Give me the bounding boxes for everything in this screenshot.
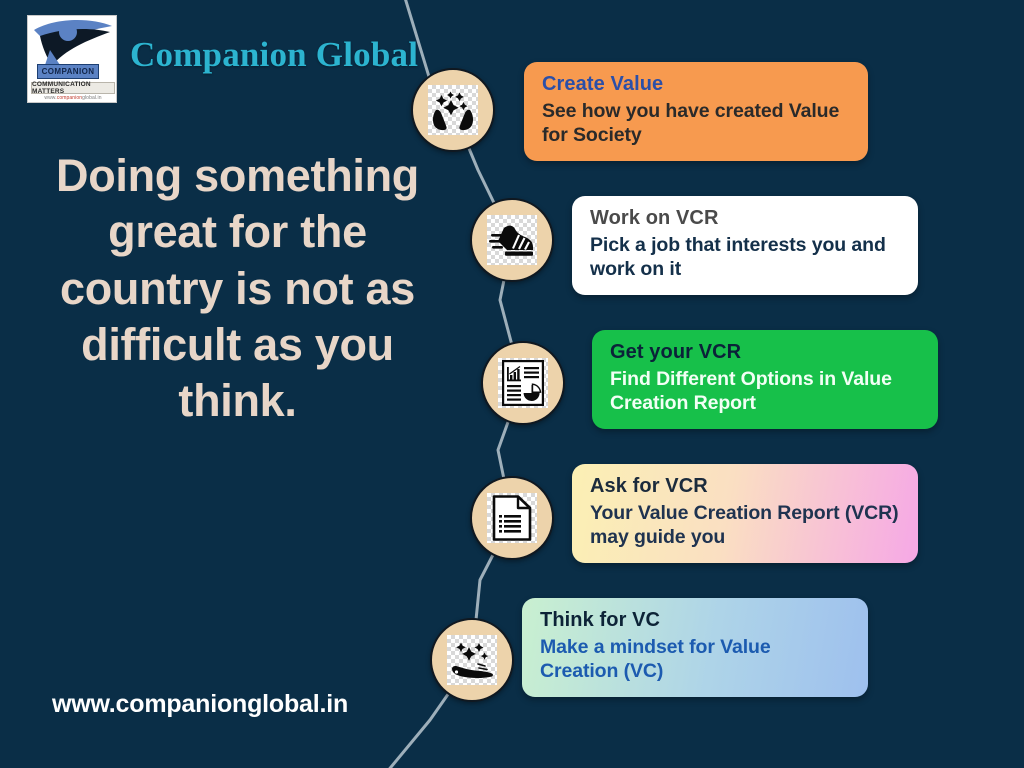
step-card[interactable]: Work on VCR Pick a job that interests yo… — [572, 196, 918, 295]
step-card-body: Make a mindset for Value Creation (VC) — [540, 635, 850, 684]
infographic-canvas: COMPANION COMMUNICATION MATTERS www.comp… — [0, 0, 1024, 768]
step-card-title: Get your VCR — [610, 341, 920, 364]
step-card[interactable]: Create Value See how you have created Va… — [524, 62, 868, 161]
running-shoe-icon — [487, 215, 537, 265]
logo-url-accent: companion — [57, 95, 82, 101]
step-card-title: Think for VC — [540, 609, 850, 632]
logo-tagline: COMMUNICATION MATTERS — [31, 82, 115, 94]
step-card-body: Find Different Options in Value Creation… — [610, 367, 920, 416]
report-chart-icon — [498, 358, 548, 408]
step-icon-bubble[interactable] — [470, 198, 554, 282]
logo-url-prefix: www. — [44, 95, 56, 101]
step-icon-bubble[interactable] — [470, 476, 554, 560]
step-card[interactable]: Ask for VCR Your Value Creation Report (… — [572, 464, 918, 563]
logo-badge-text: COMPANION — [37, 64, 99, 79]
step-icon-bubble[interactable] — [411, 68, 495, 152]
logo-url-suffix: global.in — [82, 95, 102, 101]
step-card[interactable]: Think for VC Make a mindset for Value Cr… — [522, 598, 868, 697]
step-card-body: Your Value Creation Report (VCR) may gui… — [590, 501, 900, 550]
hand-sparkle-icon — [447, 635, 497, 685]
brand-title: Companion Global — [130, 35, 418, 75]
logo-url: www.companionglobal.in — [31, 95, 115, 103]
step-card-title: Work on VCR — [590, 207, 900, 230]
companion-logo: COMPANION COMMUNICATION MATTERS www.comp… — [27, 15, 117, 103]
step-card-body: See how you have created Value for Socie… — [542, 99, 850, 148]
footer-website: www.companionglobal.in — [52, 690, 348, 719]
hands-sparkle-icon — [428, 85, 478, 135]
step-icon-bubble[interactable] — [481, 341, 565, 425]
document-lines-icon — [487, 493, 537, 543]
step-card-title: Create Value — [542, 73, 850, 96]
step-card-title: Ask for VCR — [590, 475, 900, 498]
page-headline: Doing something great for the country is… — [55, 148, 420, 429]
step-card-body: Pick a job that interests you and work o… — [590, 233, 900, 282]
step-card[interactable]: Get your VCR Find Different Options in V… — [592, 330, 938, 429]
step-icon-bubble[interactable] — [430, 618, 514, 702]
